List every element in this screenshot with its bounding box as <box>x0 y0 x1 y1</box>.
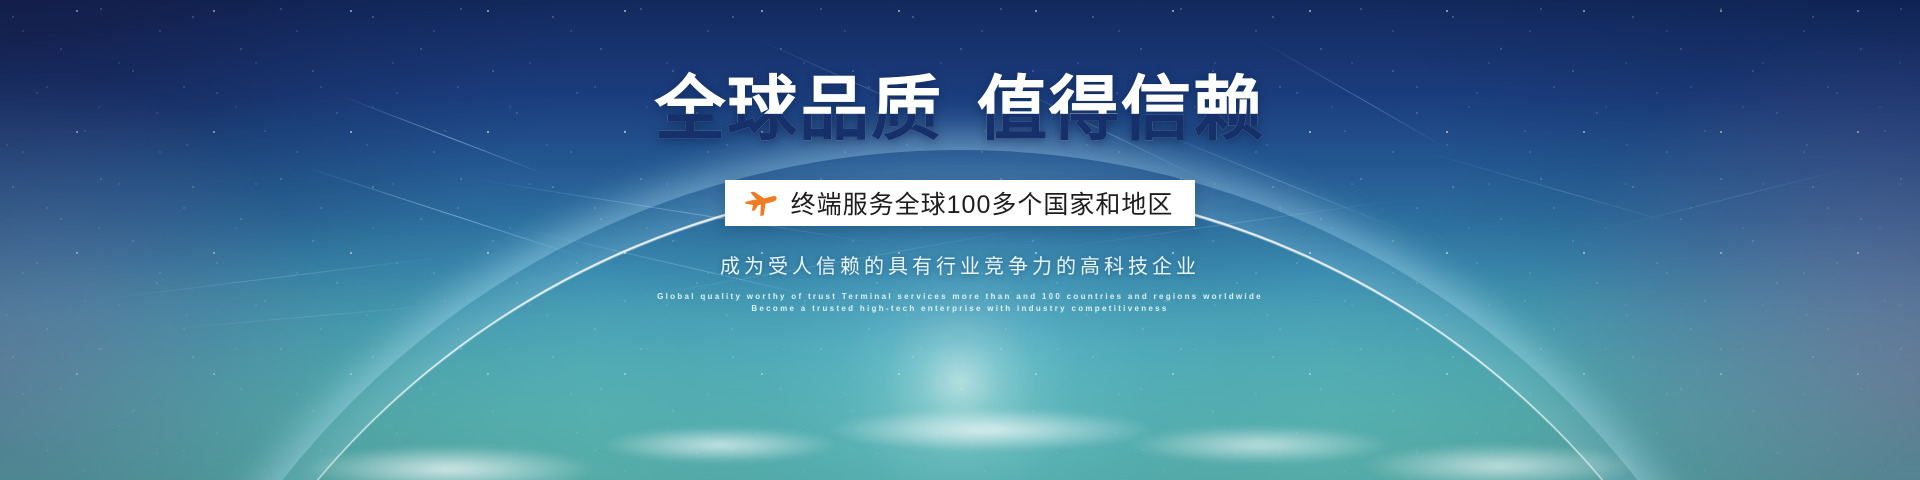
service-badge-text: 终端服务全球100多个国家和地区 <box>791 185 1174 221</box>
headline-part-1: 全球品质 全球品质 <box>655 74 943 144</box>
airplane-icon <box>743 189 777 217</box>
service-badge: 终端服务全球100多个国家和地区 <box>725 180 1196 226</box>
english-subtitle-line-1: Global quality worthy of trust Terminal … <box>657 291 1263 303</box>
tagline: 成为受人信赖的具有行业竞争力的高科技企业 <box>720 250 1200 279</box>
english-subtitle-line-2: Become a trusted high-tech enterprise wi… <box>657 303 1263 315</box>
headline-part-2-text: 值得信赖 <box>977 70 1265 148</box>
banner-content: 全球品质 全球品质 值得信赖 值得信赖 终端服务全球100多个国家和地区 成为受… <box>0 0 1920 480</box>
headline-part-2: 值得信赖 值得信赖 <box>977 74 1265 144</box>
headline-part-1-text: 全球品质 <box>655 70 943 148</box>
english-subtitle-block: Global quality worthy of trust Terminal … <box>657 291 1263 316</box>
headline: 全球品质 全球品质 值得信赖 值得信赖 <box>655 74 1265 144</box>
hero-banner: 全球品质 全球品质 值得信赖 值得信赖 终端服务全球100多个国家和地区 成为受… <box>0 0 1920 480</box>
